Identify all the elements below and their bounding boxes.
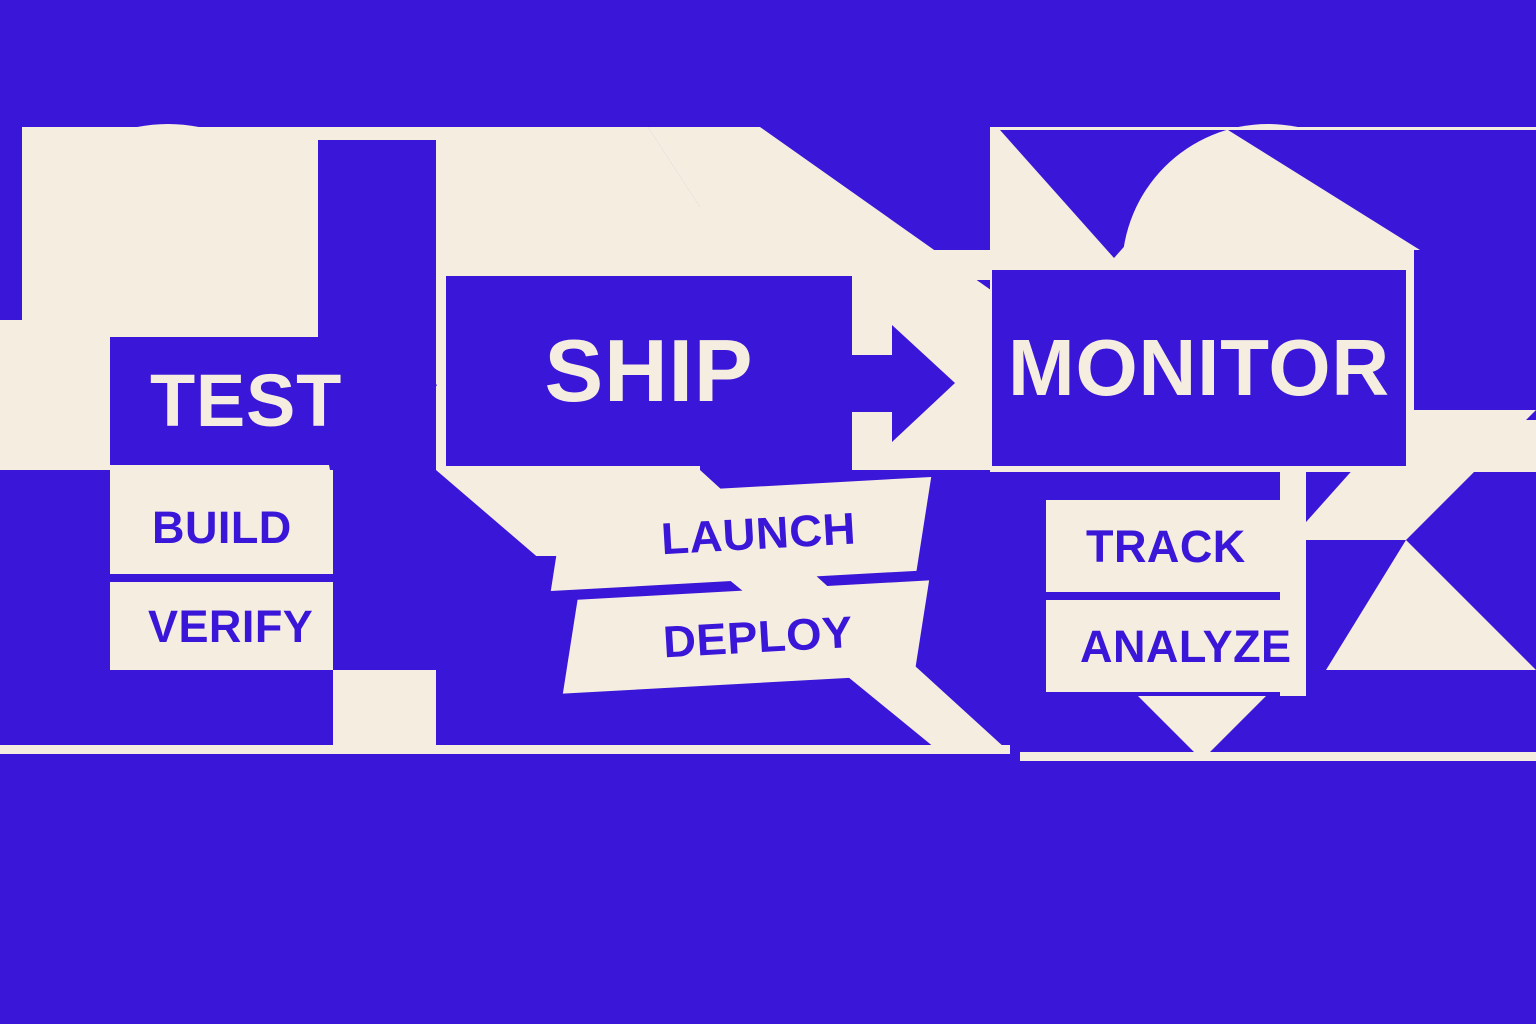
stage-title-monitor: MONITOR	[1008, 328, 1390, 408]
sub-label-text-verify: VERIFY	[148, 604, 313, 649]
baseline-rule-left	[0, 745, 1010, 754]
left-lower-blue-block-2	[333, 470, 436, 670]
left-column-decor	[333, 670, 436, 748]
stage-block-ship[interactable]: SHIP	[446, 276, 852, 466]
sub-label-chip-build[interactable]: BUILD	[110, 480, 333, 574]
left-lower-blue-block	[0, 470, 110, 670]
sub-label-text-build: BUILD	[152, 505, 292, 550]
right-mid-blue	[1414, 250, 1536, 420]
sub-label-text-analyze: ANALYZE	[1080, 624, 1292, 669]
sub-label-text-launch: LAUNCH	[660, 505, 857, 560]
stage-block-test[interactable]: TEST	[110, 337, 382, 465]
baseline-rule-right	[1020, 752, 1536, 761]
sub-label-text-deploy: DEPLOY	[662, 609, 854, 664]
stage-block-monitor[interactable]: MONITOR	[992, 270, 1406, 466]
stage-title-test: TEST	[150, 364, 342, 438]
sub-label-text-track: TRACK	[1086, 524, 1246, 569]
diagram-canvas: TEST SHIP MONITOR BUILD VERIFY LAUNCH DE…	[0, 0, 1536, 1024]
sub-label-chip-analyze[interactable]: ANALYZE	[1046, 600, 1296, 692]
left-edge-blue-strip	[0, 127, 22, 327]
sub-label-chip-verify[interactable]: VERIFY	[110, 582, 333, 670]
sub-label-chip-track[interactable]: TRACK	[1046, 500, 1296, 592]
stage-title-ship: SHIP	[545, 327, 754, 415]
